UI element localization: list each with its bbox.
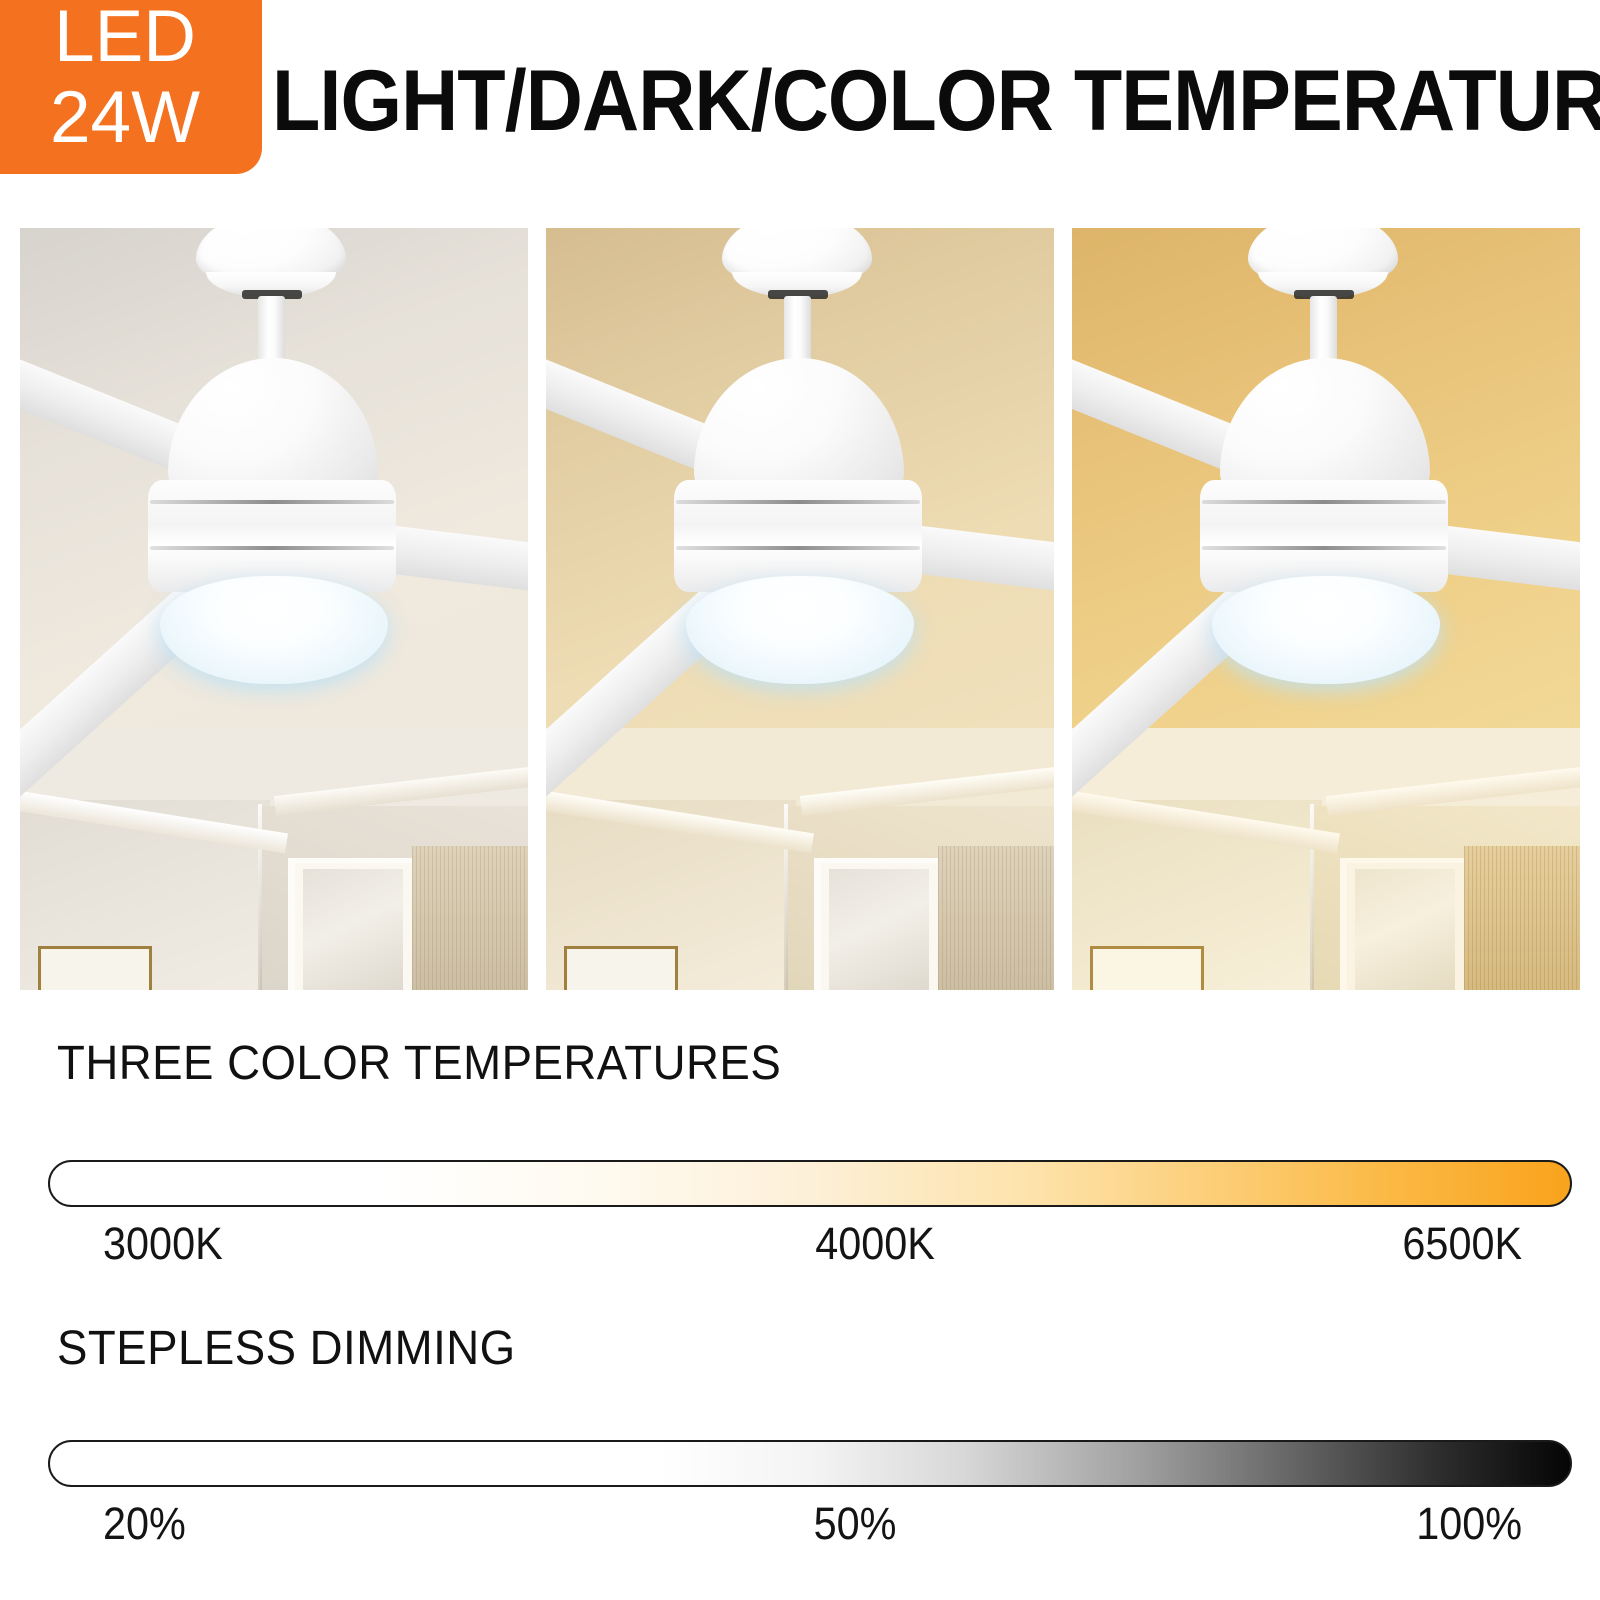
badge-wattage-label: 24W — [0, 83, 262, 152]
color-temperature-heading: THREE COLOR TEMPERATURES — [57, 1036, 781, 1091]
doorway-frame — [288, 858, 413, 990]
framed-picture — [1090, 946, 1204, 990]
framed-picture — [564, 946, 678, 990]
fan-hub-band-lower — [676, 546, 920, 550]
ceiling-fan — [20, 228, 528, 788]
dimming-heading: STEPLESS DIMMING — [57, 1321, 516, 1376]
scene-panel-warm-amber — [1072, 228, 1580, 990]
wood-grain-panel — [1464, 846, 1580, 990]
fan-hub-band-lower — [150, 546, 394, 550]
doorway-frame — [1340, 858, 1465, 990]
dimming-labels: 20% 50% 100% — [48, 1498, 1572, 1558]
mirror-surface — [1355, 869, 1455, 990]
fan-hub-band-upper — [150, 500, 394, 504]
led-wattage-badge: LED 24W — [0, 0, 262, 174]
doorway-frame — [814, 858, 939, 990]
dimming-gradient-bar[interactable] — [48, 1440, 1572, 1487]
cct-label-right: 6500K — [1402, 1218, 1522, 1270]
badge-led-label: LED — [0, 2, 262, 71]
ceiling-fan — [546, 228, 1054, 788]
wood-grain-panel — [412, 846, 528, 990]
dim-label-middle: 50% — [814, 1498, 897, 1550]
mirror-surface — [829, 869, 929, 990]
led-light-dome — [160, 576, 388, 684]
led-light-dome — [1212, 576, 1440, 684]
mirror-surface — [303, 869, 403, 990]
scene-panel-cool-white — [20, 228, 528, 990]
framed-picture — [38, 946, 152, 990]
ceiling-fan — [1072, 228, 1580, 788]
cct-label-middle: 4000K — [815, 1218, 935, 1270]
page-title: LIGHT/DARK/COLOR TEMPERATURE — [272, 58, 1486, 144]
wood-grain-panel — [938, 846, 1054, 990]
cct-label-left: 3000K — [103, 1218, 223, 1270]
fan-hub-band-lower — [1202, 546, 1446, 550]
dim-label-left: 20% — [103, 1498, 186, 1550]
fan-hub-band-upper — [1202, 500, 1446, 504]
header: LED 24W LIGHT/DARK/COLOR TEMPERATURE — [0, 0, 1600, 200]
color-temperature-labels: 3000K 4000K 6500K — [48, 1218, 1572, 1278]
led-light-dome — [686, 576, 914, 684]
scene-gallery — [20, 228, 1580, 990]
dim-label-right: 100% — [1416, 1498, 1522, 1550]
scene-panel-neutral-warm — [546, 228, 1054, 990]
color-temperature-gradient-bar[interactable] — [48, 1160, 1572, 1207]
fan-hub-band-upper — [676, 500, 920, 504]
